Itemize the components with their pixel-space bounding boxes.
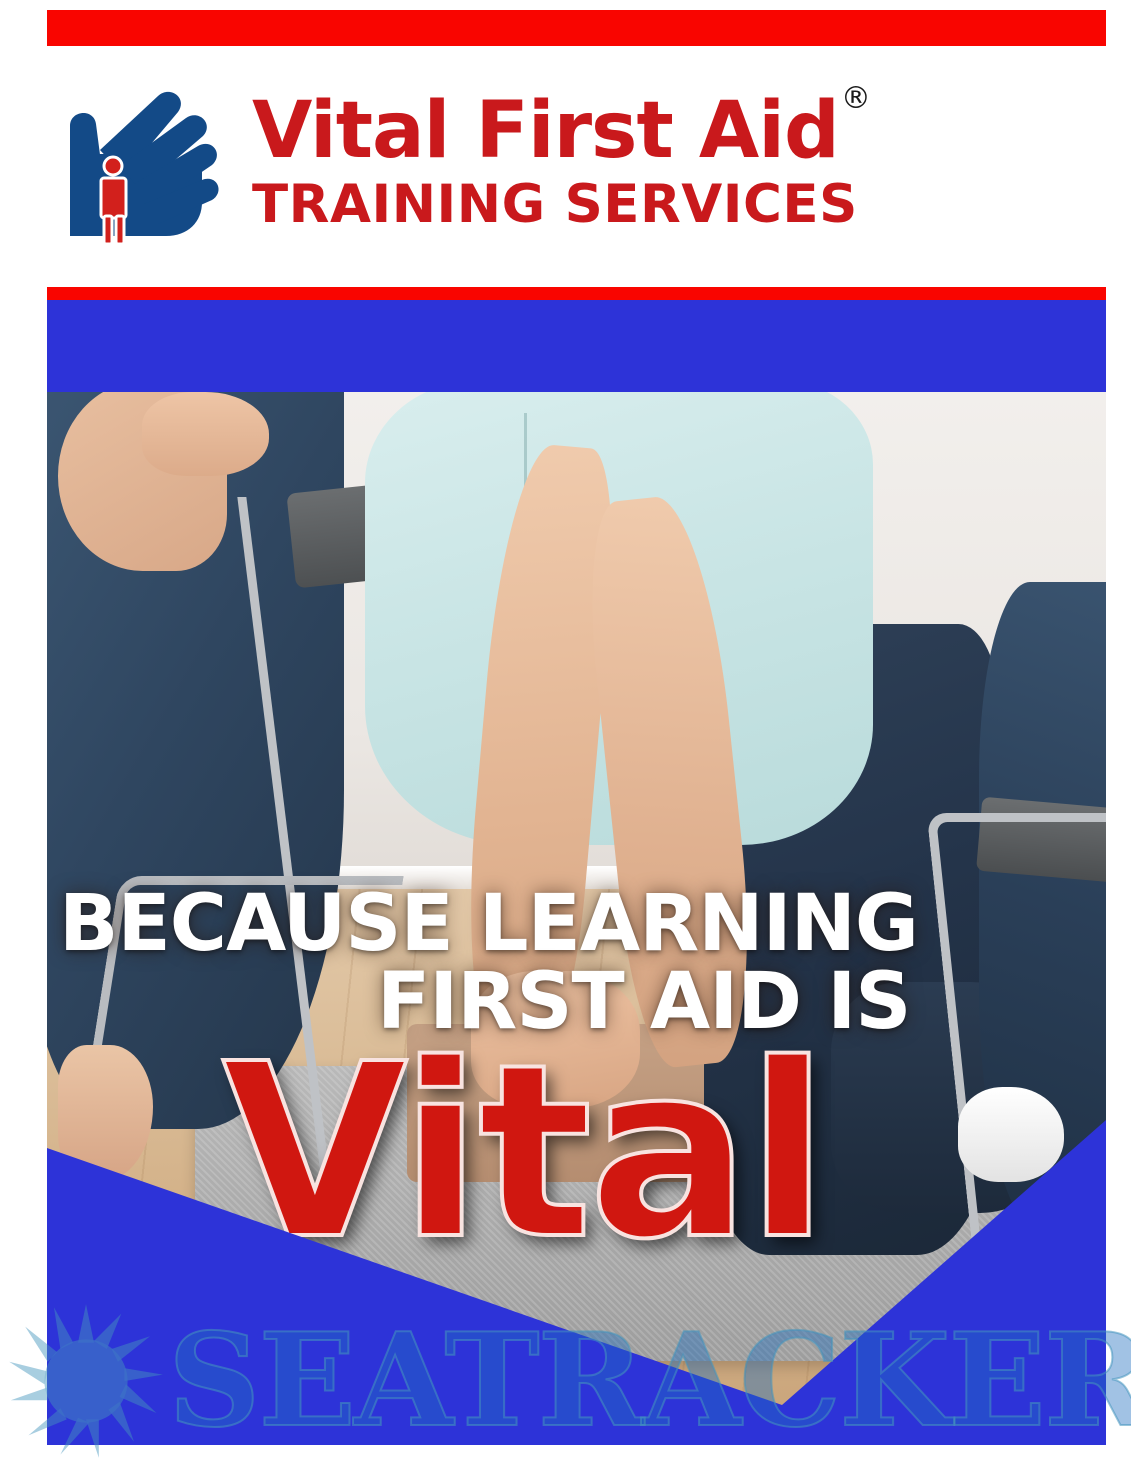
top-red-bar <box>47 10 1106 46</box>
registered-trademark-icon: ® <box>841 81 870 116</box>
brand-tagline: TRAINING SERVICES <box>252 176 868 234</box>
blue-accent-band <box>47 300 1106 392</box>
hand-with-person-icon <box>62 84 232 244</box>
photo-left-person-hand <box>142 392 269 476</box>
photo-right-person-shoe <box>958 1087 1064 1182</box>
photo-instructor-hands <box>471 971 640 1108</box>
header: Vital First Aid® TRAINING SERVICES <box>47 60 1106 275</box>
cover-page: Vital First Aid® TRAINING SERVICES <box>0 0 1131 1463</box>
brand-name: Vital First Aid® <box>252 78 868 174</box>
brand-name-text: Vital First Aid <box>252 86 839 176</box>
hero-photo: BECAUSE LEARNING FIRST AID IS Vital <box>47 392 1106 1445</box>
red-divider-bar <box>47 287 1106 300</box>
brand-lockup: Vital First Aid® TRAINING SERVICES <box>252 78 868 234</box>
